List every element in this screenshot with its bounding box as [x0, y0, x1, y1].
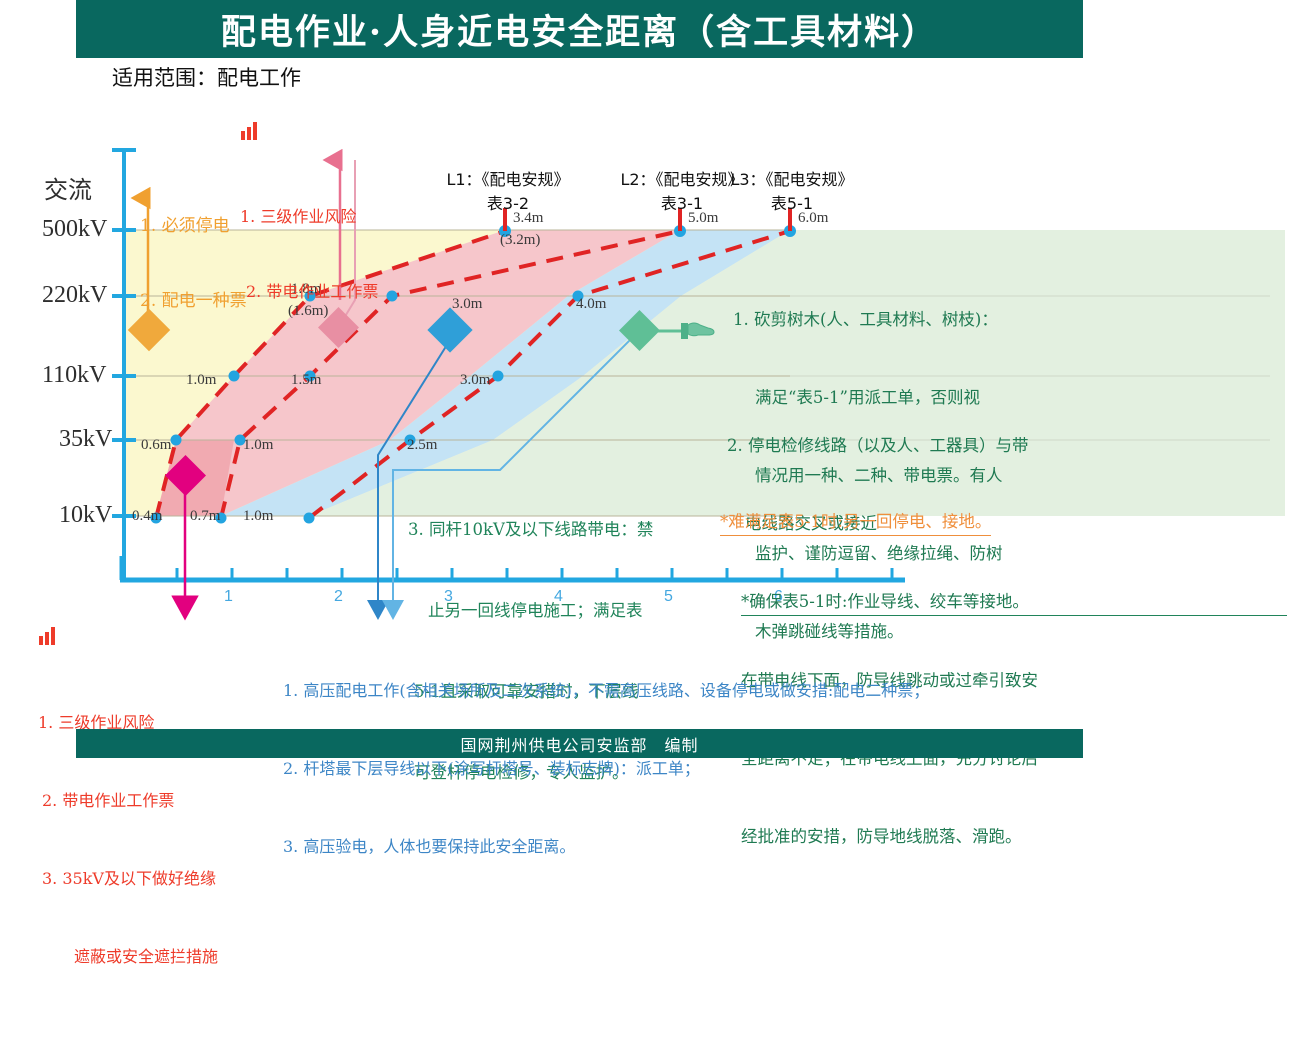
L1-distance-alt: (3.2m) [500, 232, 540, 249]
note-bottom-blue-line1: 1. 高压配电工作(含相关场所及二次系统)，不需高压线路、设备停电或做安措:配电… [283, 678, 1013, 704]
note-right-orange-item3: *难满足表5-1时:另一回停电、接地。 [720, 509, 991, 536]
note-bottom-red-line4: 遮蔽或安全遮拦措施 [74, 944, 218, 970]
dist-label-1-5m: 1.5m [291, 372, 321, 389]
L1-distance: 3.4m [513, 210, 543, 227]
note-left-orange-line2: 2. 配电一种票 [140, 289, 247, 314]
page-footer-bar: 国网荆州供电公司安监部 编制 [76, 729, 1083, 758]
note-bottom-red-line3: 3. 35kV及以下做好绝缘 [42, 866, 218, 892]
right-green-2-l1: 2. 停电检修线路（以及人、工器具）与带 [727, 433, 1287, 459]
risk-bars-icon [240, 122, 260, 140]
note-left-orange-line1: 1. 必须停电 [140, 214, 247, 239]
x-tick-1: 1 [224, 588, 233, 606]
y-tick-220kv: 220kV [42, 282, 107, 309]
note-bottom-blue-line3: 3. 高压验电，人体也要保持此安全距离。 [283, 834, 1013, 860]
L3-source-line2: 表5-1 [702, 190, 882, 214]
note-center-green-line2: 止另一回线停电施工；满足表 [428, 597, 653, 624]
footer-text: 国网荆州供电公司安监部 编制 [460, 732, 698, 756]
note-left-orange: 1. 必须停电 2. 配电一种票 [140, 164, 247, 339]
L1-source-line1: L1：《配电安规》 [418, 166, 598, 190]
y-tick-110kv: 110kV [42, 362, 106, 389]
L1-source-line2: 表3-2 [418, 190, 598, 214]
y-tick-35kv: 35kV [59, 426, 112, 453]
right-green-2-l3: *确保表5-1时:作业导线、绞车等接地。 [741, 589, 1287, 616]
L3-source-line1: L3：《配电安规》 [702, 166, 882, 190]
dist-label-4-0m: 4.0m [576, 296, 606, 313]
y-tick-500kv: 500kV [42, 216, 107, 243]
note-top-red: 1. 三级作业风险 2. 带电作业工作票 [240, 118, 378, 372]
y-tick-10kv: 10kV [59, 502, 112, 529]
dist-label-1-0m-35kv: 1.0m [243, 437, 273, 454]
dist-label-3-0m-220kv: 3.0m [452, 296, 482, 313]
note-bottom-red: 1. 三级作业风险 2. 带电作业工作票 3. 35kV及以下做好绝缘 遮蔽或安… [38, 622, 218, 1040]
right-green-1-l1: 1. 砍剪树木(人、工具材料、树枝)： [733, 307, 1273, 333]
note-center-green-line1: 3. 同杆10kV及以下线路带电：禁 [408, 516, 653, 543]
y-axis-title: 交流 [44, 170, 92, 205]
risk-bars-icon [38, 627, 58, 645]
dist-label-0-4m: 0.4m [132, 508, 162, 525]
dist-label-3-0m-110kv: 3.0m [460, 372, 490, 389]
note-bottom-blue-line2: 2. 杆塔最下层导线以下(涂写杆塔号、装标志牌)：派工单； [283, 756, 1013, 782]
dist-label-0-7m: 0.7m [190, 508, 220, 525]
dist-label-1-0m-10kv: 1.0m [243, 508, 273, 525]
note-top-red-line1: 1. 三级作业风险 [240, 204, 378, 229]
L3-distance: 6.0m [798, 210, 828, 227]
note-bottom-red-line2: 2. 带电作业工作票 [42, 788, 218, 814]
x-tick-5: 5 [664, 588, 673, 606]
x-tick-2: 2 [334, 588, 343, 606]
dist-label-1-0m-110kv: 1.0m [186, 372, 216, 389]
dist-label-2-5m: 2.5m [407, 437, 437, 454]
dist-label-0-6m: 0.6m [141, 437, 171, 454]
note-top-red-line2: 2. 带电作业工作票 [246, 279, 378, 304]
